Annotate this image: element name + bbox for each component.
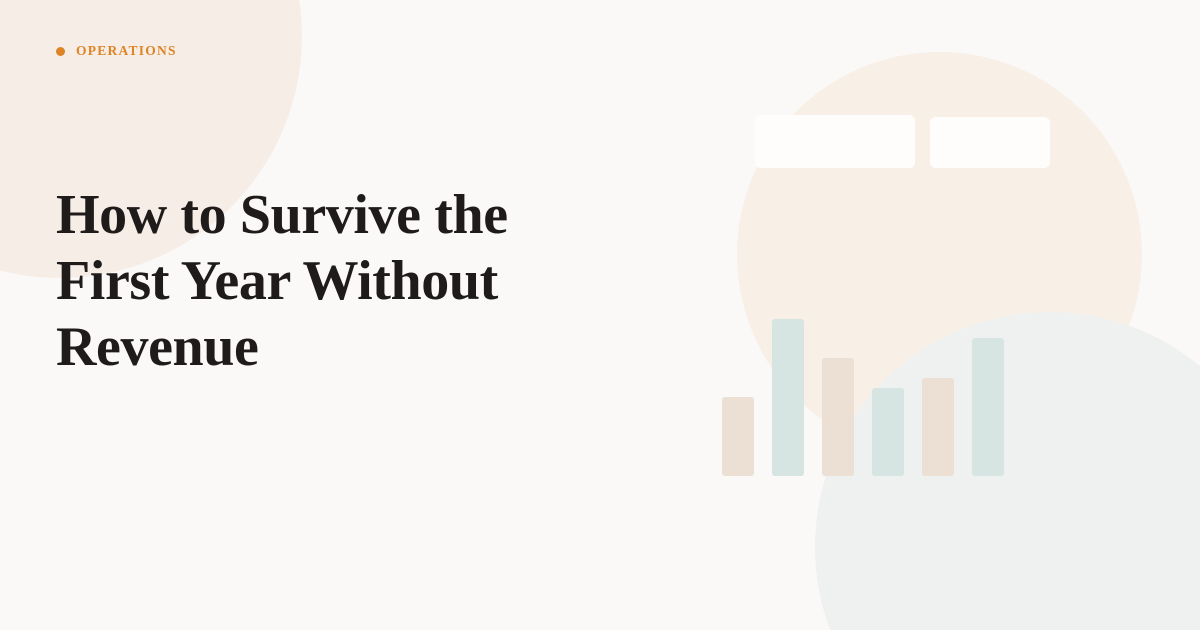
category-label: OPERATIONS bbox=[76, 43, 177, 59]
bullet-dot-icon bbox=[56, 47, 65, 56]
page-title: How to Survive the First Year Without Re… bbox=[56, 182, 616, 380]
category-eyebrow: OPERATIONS bbox=[56, 43, 177, 59]
card-placeholder-a bbox=[755, 115, 915, 168]
social-card-canvas: OPERATIONS How to Survive the First Year… bbox=[0, 0, 1200, 630]
chart-bar bbox=[822, 358, 854, 476]
chart-bar bbox=[722, 397, 754, 476]
card-placeholder-b bbox=[930, 117, 1050, 168]
chart-bar bbox=[772, 319, 804, 476]
text-content: OPERATIONS How to Survive the First Year… bbox=[56, 0, 656, 630]
chart-bar bbox=[922, 378, 954, 476]
chart-bar bbox=[972, 338, 1004, 476]
chart-bar bbox=[872, 388, 904, 476]
